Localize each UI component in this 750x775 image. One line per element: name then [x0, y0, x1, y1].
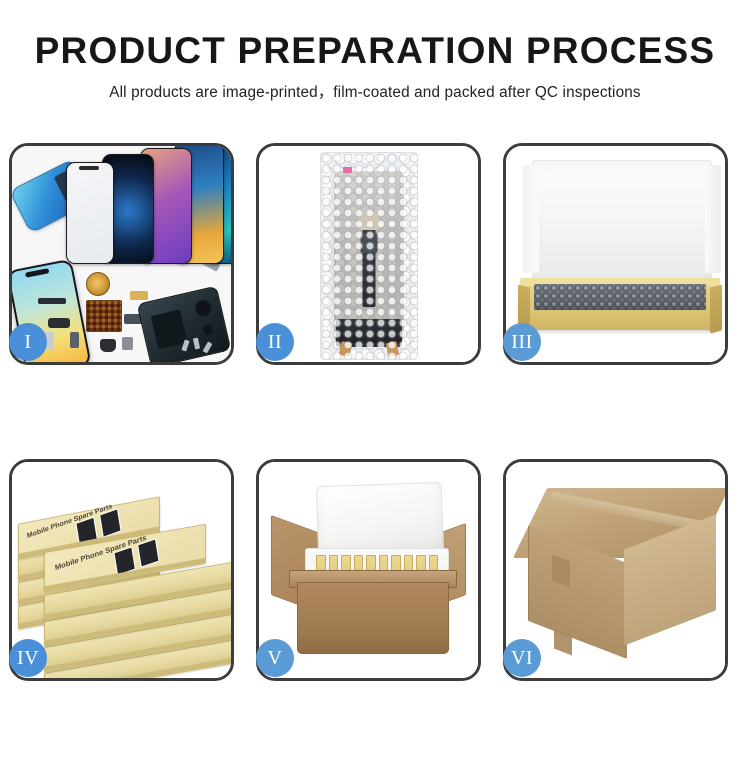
retail-box-stack: Mobile Phone Spare Parts Mobile Phone Sp… — [14, 482, 231, 672]
page-title: PRODUCT PREPARATION PROCESS — [0, 30, 750, 71]
part-sim-tray-icon — [70, 332, 79, 348]
part-strip-icon — [38, 298, 66, 304]
phone-screen-white-icon — [66, 162, 114, 264]
tray-right-side — [710, 285, 722, 334]
yellow-box-tray-icon — [520, 282, 720, 330]
step-badge-1: I — [9, 323, 47, 361]
step-panel-1[interactable]: I — [9, 143, 234, 365]
step-badge-2: II — [256, 323, 294, 361]
page-header: PRODUCT PREPARATION PROCESS All products… — [0, 0, 750, 102]
step-panel-6[interactable]: VI — [503, 459, 728, 681]
step-image-2 — [259, 146, 478, 362]
part-speaker-icon — [100, 339, 116, 352]
process-steps-grid: I II — [0, 143, 750, 775]
chip-array-part-icon — [86, 300, 122, 332]
lcd-connector-board-icon — [336, 319, 402, 347]
part-button-icon — [122, 337, 133, 350]
screws-icon — [183, 338, 217, 354]
step-image-1 — [12, 146, 231, 362]
foam-liner-icon — [532, 160, 712, 290]
flex-cable-icon — [362, 227, 375, 307]
bubble-wrap-fill-icon — [534, 284, 706, 310]
step-panel-4[interactable]: Mobile Phone Spare Parts Mobile Phone Sp… — [9, 459, 234, 681]
step-image-3 — [506, 146, 725, 362]
process-row-1: I II — [0, 143, 750, 365]
step-panel-2[interactable]: II — [256, 143, 481, 365]
step-panel-3[interactable]: III — [503, 143, 728, 365]
step-badge-5: V — [256, 639, 294, 677]
speaker-coil-part-icon — [86, 272, 110, 296]
page-subtitle: All products are image-printed，film-coat… — [0, 80, 750, 102]
step-badge-6: VI — [503, 639, 541, 677]
process-row-2: Mobile Phone Spare Parts Mobile Phone Sp… — [0, 459, 750, 681]
step-badge-4: IV — [9, 639, 47, 677]
part-connector-icon — [48, 318, 70, 328]
step-image-6 — [506, 462, 725, 678]
step-image-5 — [259, 462, 478, 678]
part-flex-gold-icon — [130, 291, 148, 300]
pink-label-tab-icon — [343, 167, 352, 173]
step-panel-5[interactable]: V — [256, 459, 481, 681]
bubble-wrap-bag-icon — [320, 152, 418, 360]
step-badge-3: III — [503, 323, 541, 361]
carton-body-icon — [297, 582, 449, 654]
phone-display-fan — [60, 154, 231, 264]
step-image-4: Mobile Phone Spare Parts Mobile Phone Sp… — [12, 462, 231, 678]
